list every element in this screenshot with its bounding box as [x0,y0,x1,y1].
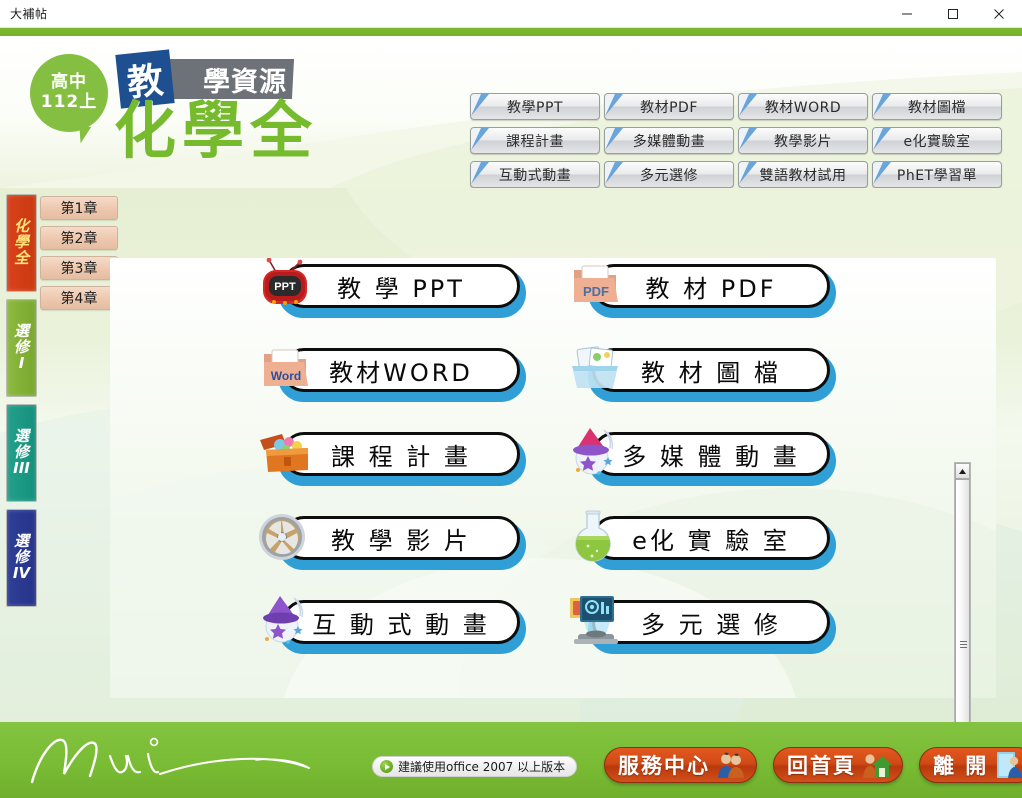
film-reel-icon [256,508,314,566]
chapter-list: 第1章 第2章 第3章 第4章 [40,196,118,316]
exit-label: 離 開 [933,750,988,780]
quicklink-pdf[interactable]: 教材PDF [604,93,734,120]
pill-body: 教 學 PPT [282,264,520,308]
svg-text:Word: Word [271,369,301,383]
rail-char: I [19,356,25,372]
scroll-up-button[interactable] [955,463,970,479]
rail-char: IV [13,566,30,582]
maximize-icon [947,8,959,20]
window-controls [884,0,1022,28]
corner-highlight-icon [471,128,481,150]
green-top-stripe [0,28,1022,36]
quicklink-word[interactable]: 教材WORD [738,93,868,120]
resource-button-teaching-ppt[interactable]: 教 學 PPT PPT [256,264,526,322]
pdf-folder-icon: PDF [566,258,624,314]
subject-rail: 化 學 全 選 修 I 選 修 III 選 修 IV [6,194,38,614]
magic-hat-icon [256,592,314,650]
resource-button-label: 課 程 計 畫 [331,437,471,472]
resource-button-label: 多 元 選 修 [641,605,781,640]
service-center-label: 服務中心 [618,750,710,780]
magic-hat-icon [566,424,624,482]
office-note-text: 建議使用office 2007 以上版本 [398,758,565,775]
quicklink-electives[interactable]: 多元選修 [604,161,734,188]
home-label: 回首頁 [787,750,856,780]
resource-button-label: 互 動 式 動 畫 [312,605,490,640]
pill-body: 多 媒 體 動 畫 [592,432,830,476]
quicklink-multimedia[interactable]: 多媒體動畫 [604,127,734,154]
resource-button-multimedia-animation[interactable]: 多 媒 體 動 畫 [566,432,836,490]
resource-button-label: e化 實 驗 室 [632,521,790,556]
quicklink-label: 教學影片 [774,131,832,151]
quicklink-elab[interactable]: e化實驗室 [872,127,1002,154]
office-version-note: 建議使用office 2007 以上版本 [372,756,577,777]
resource-button-interactive-animation[interactable]: 互 動 式 動 畫 [256,600,526,658]
corner-highlight-icon [471,94,481,116]
corner-highlight-icon [873,128,883,150]
pill-body: e化 實 驗 室 [592,516,830,560]
quicklink-label: 雙語教材試用 [760,165,847,185]
chapter-button-4[interactable]: 第4章 [40,286,118,310]
home-button[interactable]: 回首頁 [773,747,903,783]
quicklink-label: 多元選修 [640,165,698,185]
subject-title: 化學全 [114,100,318,162]
quicklink-video[interactable]: 教學影片 [738,127,868,154]
monitor-icon [566,592,624,650]
corner-highlight-icon [873,162,883,184]
resource-button-material-word[interactable]: 教材WORD Word [256,348,526,406]
corner-highlight-icon [471,162,481,184]
sidebar-item-elective-4[interactable]: 選 修 IV [6,509,37,607]
resource-button-label: 教 材 圖 檔 [641,353,781,388]
quicklink-label: 教材圖檔 [908,97,966,117]
grade-bubble: 高中 112上 [30,54,108,132]
chapter-button-1[interactable]: 第1章 [40,196,118,220]
quicklink-label: 教學PPT [507,97,563,117]
image-box-icon [566,340,624,398]
resource-button-label: 教材WORD [329,353,473,388]
vertical-scrollbar[interactable] [954,462,971,722]
content-area: 化 學 全 選 修 I 選 修 III 選 修 IV 第1章 第2章 [0,188,1022,722]
home-icon [862,750,892,780]
application-window: 大補帖 [0,0,1022,798]
chapter-button-3[interactable]: 第3章 [40,256,118,280]
corner-highlight-icon [739,94,749,116]
quicklink-syllabus[interactable]: 課程計畫 [470,127,600,154]
quicklink-interactive[interactable]: 互動式動畫 [470,161,600,188]
svg-text:PPT: PPT [274,281,296,293]
resource-button-course-plan[interactable]: 課 程 計 畫 [256,432,526,490]
resource-panel: 教 學 PPT PPT [110,258,996,698]
product-logo: 高中 112上 學資源 教 化學全 [18,46,318,186]
corner-highlight-icon [873,94,883,116]
corner-highlight-icon [605,94,615,116]
resource-button-material-pdf[interactable]: 教 材 PDF PDF [566,264,836,322]
resource-text: 學資源 [203,60,287,99]
service-center-button[interactable]: 服務中心 [604,747,757,783]
pill-body: 多 元 選 修 [592,600,830,644]
corner-highlight-icon [605,162,615,184]
resource-banner: 學資源 [160,59,294,99]
quicklink-grid: 教學PPT 教材PDF 教材WORD 教材圖檔 課程計畫 [470,93,1004,188]
close-icon [993,8,1005,20]
resource-button-label: 教 材 PDF [645,269,776,304]
svg-text:PDF: PDF [583,284,609,299]
rail-char: 全 [14,251,29,267]
resource-button-label: 教 學 PPT [337,269,465,304]
resource-button-teaching-video[interactable]: 教 學 影 片 [256,516,526,574]
treasure-box-icon [256,424,314,482]
pill-body: 教 材 PDF [592,264,830,308]
pill-body: 互 動 式 動 畫 [282,600,520,644]
footer-actions: 服務中心 回首頁 離 開 [604,747,1022,783]
corner-highlight-icon [739,128,749,150]
scrollbar-thumb[interactable] [955,479,970,722]
scroll-up-arrow-icon [959,469,966,474]
resource-button-label: 多 媒 體 動 畫 [622,437,800,472]
minimize-button[interactable] [884,0,930,28]
ppt-tv-icon: PPT [256,258,314,314]
corner-highlight-icon [739,162,749,184]
rail-char: III [13,461,30,477]
exit-button[interactable]: 離 開 [919,747,1022,783]
title-bar: 大補帖 [0,0,1022,28]
quicklink-ppt[interactable]: 教學PPT [470,93,600,120]
quicklink-label: 互動式動畫 [499,165,572,185]
word-folder-icon: Word [256,340,314,398]
pill-body: 教材WORD [282,348,520,392]
quicklink-label: PhET學習單 [897,165,977,185]
resource-button-diverse-electives[interactable]: 多 元 選 修 [566,600,836,658]
flask-icon [566,508,624,566]
sidebar-item-elective-1[interactable]: 選 修 I [6,299,37,397]
quicklink-phet[interactable]: PhET學習單 [872,161,1002,188]
grade-line-2: 112上 [41,93,98,113]
quicklink-label: e化實驗室 [903,131,970,151]
pill-body: 教 學 影 片 [282,516,520,560]
quicklink-bilingual[interactable]: 雙語教材試用 [738,161,868,188]
quicklink-label: 教材PDF [640,97,698,117]
quicklink-label: 課程計畫 [506,131,564,151]
chapter-button-2[interactable]: 第2章 [40,226,118,250]
play-icon [380,760,393,773]
close-button[interactable] [976,0,1022,28]
maximize-button[interactable] [930,0,976,28]
quicklink-label: 多媒體動畫 [633,131,706,151]
window-title: 大補帖 [0,5,48,22]
resource-button-label: 教 學 影 片 [331,521,471,556]
resource-button-e-lab[interactable]: e化 實 驗 室 [566,516,836,574]
sidebar-item-elective-3[interactable]: 選 修 III [6,404,37,502]
quicklink-label: 教材WORD [765,97,841,117]
minimize-icon [901,8,913,20]
exit-door-icon [994,750,1022,780]
resource-button-grid: 教 學 PPT PPT [110,258,996,698]
scroll-grip-icon [960,641,967,649]
sidebar-item-chemistry-full[interactable]: 化 學 全 [6,194,37,292]
header-banner: 高中 112上 學資源 教 化學全 教學PPT 教材PDF [0,36,1022,188]
pill-body: 教 材 圖 檔 [592,348,830,392]
corner-highlight-icon [605,128,615,150]
service-people-icon [716,750,746,780]
pill-body: 課 程 計 畫 [282,432,520,476]
grade-line-1: 高中 [51,73,87,93]
quicklink-images[interactable]: 教材圖檔 [872,93,1002,120]
resource-button-material-images[interactable]: 教 材 圖 檔 [566,348,836,406]
nani-logo [24,730,344,788]
